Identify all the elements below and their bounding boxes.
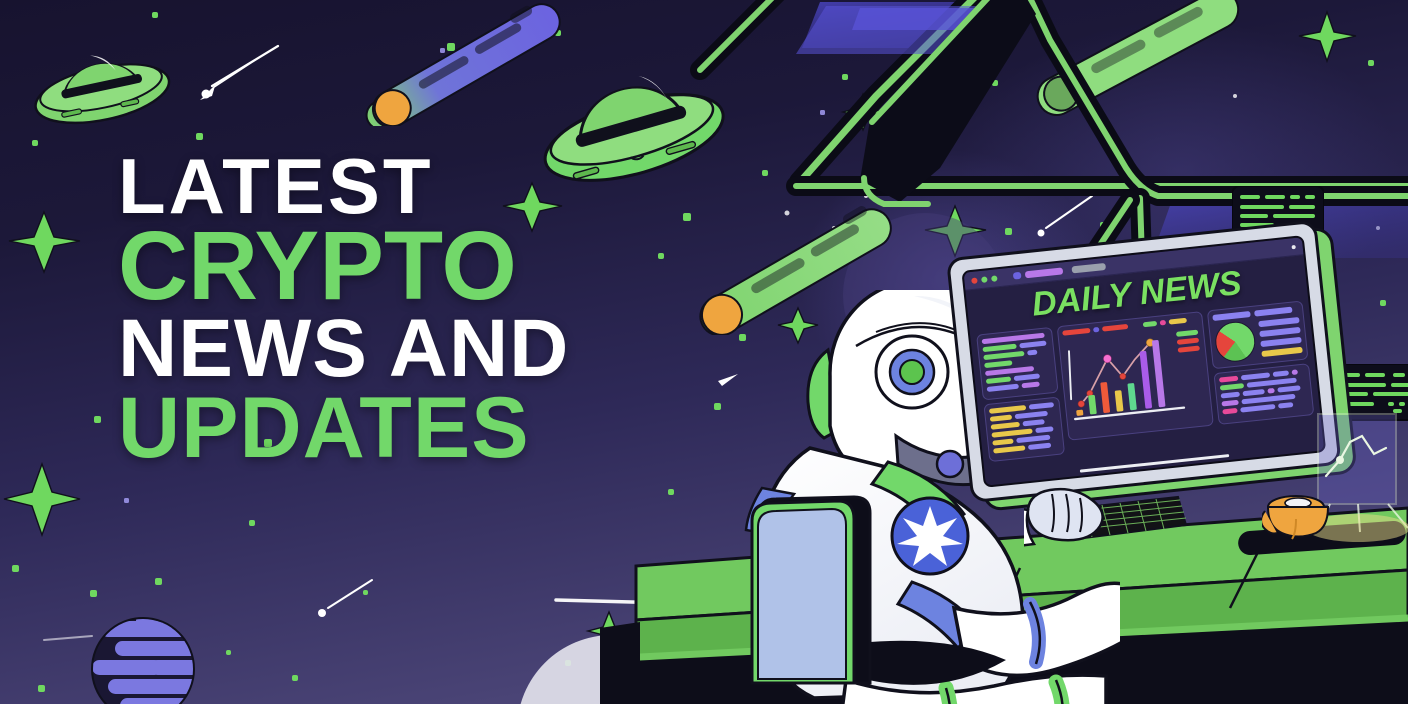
list-item	[1219, 376, 1238, 383]
window-maximize-dot[interactable]	[991, 275, 998, 282]
page-title: LATEST CRYPTO NEWS AND UPDATES	[118, 148, 569, 470]
pie-legend-item	[1259, 327, 1300, 337]
address-bar[interactable]	[1071, 263, 1106, 274]
pie-legend-item	[1260, 337, 1301, 347]
window-close-dot[interactable]	[971, 277, 978, 284]
list-item	[1035, 426, 1054, 433]
headline-line-3: NEWS AND	[118, 309, 569, 389]
left-panel-bottom[interactable]	[983, 396, 1065, 462]
coffee-mug	[1262, 485, 1334, 547]
tab-indicator-blue[interactable]	[1013, 272, 1022, 280]
left-panel-top[interactable]	[976, 327, 1058, 401]
line-and-bar-chart	[1058, 312, 1211, 423]
list-item	[990, 414, 1013, 421]
list-item	[1221, 400, 1239, 407]
headline-line-2: CRYPTO	[118, 218, 569, 313]
dashboard-right-column	[1207, 301, 1314, 425]
list-item	[982, 344, 1017, 353]
list-item	[1029, 402, 1054, 410]
list-item	[1273, 370, 1289, 377]
list-item	[992, 438, 1014, 445]
list-item	[1242, 389, 1265, 396]
window-minimize-dot[interactable]	[981, 276, 988, 283]
menu-dot[interactable]	[1291, 244, 1295, 248]
list-item	[1221, 392, 1240, 399]
list-item	[1241, 372, 1271, 380]
list-item	[1027, 349, 1038, 355]
list-item	[1022, 419, 1045, 426]
pie-legend-item	[1258, 317, 1299, 327]
list-item	[1277, 385, 1300, 392]
list-item	[1020, 341, 1047, 349]
headline-line-4: UPDATES	[118, 386, 569, 470]
list-item	[1222, 408, 1238, 415]
dashboard-left-column	[976, 327, 1064, 449]
chair	[700, 495, 960, 704]
list-item	[1268, 388, 1275, 394]
list-item	[1254, 307, 1292, 317]
list-item	[1278, 402, 1294, 409]
pie-legend-item	[1261, 347, 1302, 357]
pie-chart	[1213, 320, 1257, 364]
list-item	[1291, 369, 1298, 375]
crypto-news-banner: DAILY NEWS	[0, 0, 1408, 704]
astronaut-hand	[1024, 472, 1134, 552]
list-item	[1021, 381, 1040, 388]
tab-active[interactable]	[1025, 267, 1064, 278]
scrollbar[interactable]	[1080, 454, 1229, 473]
pie-panel[interactable]	[1207, 301, 1309, 370]
list-item	[1028, 443, 1052, 450]
monitor-screen[interactable]: DAILY NEWS	[961, 235, 1326, 488]
monitor-bezel: DAILY NEWS	[946, 220, 1342, 504]
chart-panel[interactable]	[1057, 311, 1214, 441]
list-item	[1212, 311, 1250, 321]
list-item	[1220, 383, 1244, 390]
list-item	[1014, 373, 1041, 381]
cockpit-strut-left	[760, 0, 1080, 230]
monitor[interactable]: DAILY NEWS	[946, 219, 1350, 507]
list-item	[986, 376, 1011, 384]
